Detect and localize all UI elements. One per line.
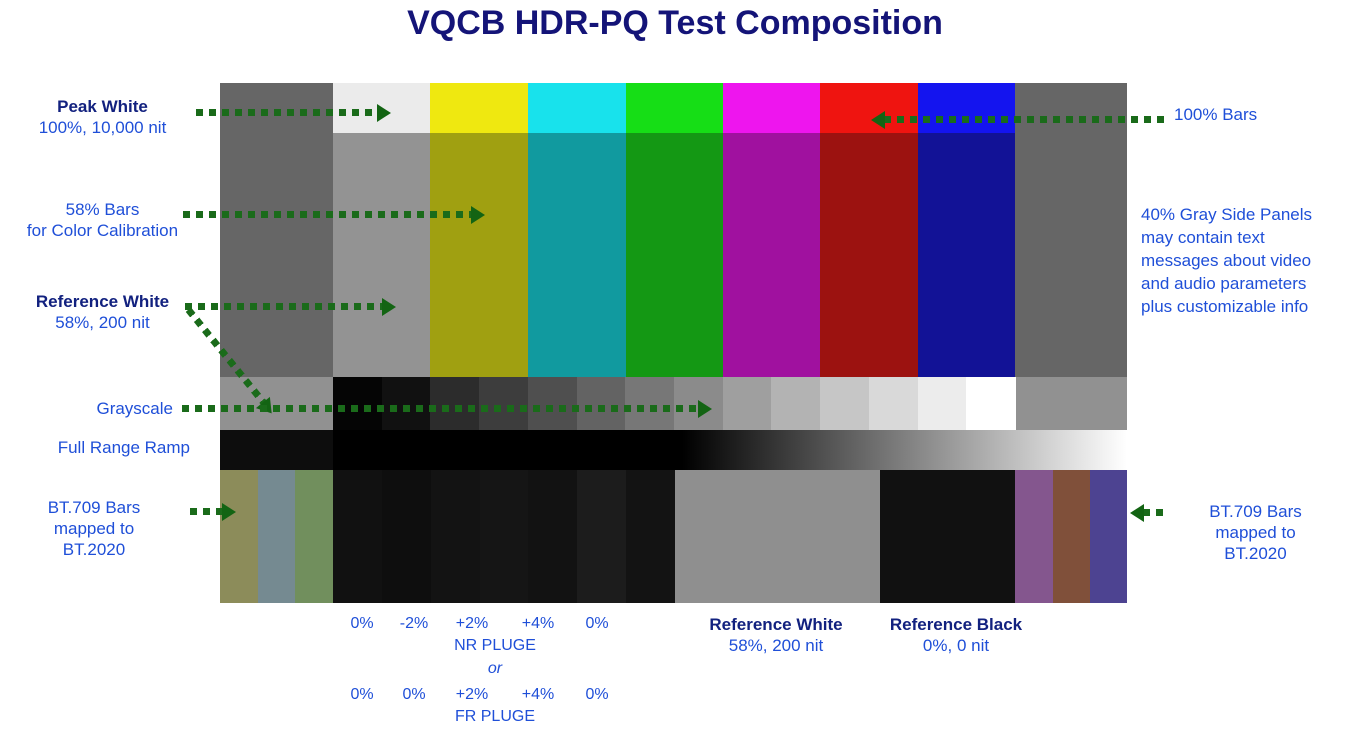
ramp-gradient: [333, 430, 1127, 470]
fr-pluge-name: FR PLUGE: [400, 708, 590, 726]
arrow-bt709-right: [1143, 509, 1163, 517]
page-title: VQCB HDR-PQ Test Composition: [0, 4, 1350, 43]
nr-pluge-value-4: 0%: [575, 615, 619, 633]
bt709-pluge-step-2: [431, 470, 480, 603]
bt709-right-purple: [1015, 470, 1053, 603]
bar-58-cyan-58: [528, 133, 626, 377]
arrow-dots: [884, 116, 1168, 123]
annotation-reference-white: Reference White 58%, 200 nit: [10, 291, 195, 333]
bt709-left-olive: [220, 470, 258, 603]
grayscale-step-2: [430, 377, 479, 430]
bar-100-cyan: [528, 83, 626, 133]
fr-pluge-value-3: +4%: [516, 686, 560, 704]
bt709-reference-white-block: [675, 470, 880, 603]
annotation-reference-white-sub: 58%, 200 nit: [55, 313, 150, 332]
arrow-grayscale: [182, 405, 699, 413]
annotation-peak-white-sub: 100%, 10,000 nit: [39, 118, 167, 137]
color-bars-row: [220, 83, 1127, 377]
grayscale-step-6: [625, 377, 674, 430]
fr-pluge-value-1: 0%: [392, 686, 436, 704]
bt709-bars-row: [220, 470, 1127, 603]
annotation-100-bars-label: 100% Bars: [1174, 105, 1257, 124]
annotation-peak-white: Peak White 100%, 10,000 nit: [10, 96, 195, 138]
bt709-pluge-step-4: [528, 470, 577, 603]
annotation-full-range-ramp-label: Full Range Ramp: [58, 438, 190, 457]
arrow-head-left: [1130, 504, 1144, 522]
fr-pluge-value-0: 0%: [340, 686, 384, 704]
annotation-full-range-ramp: Full Range Ramp: [10, 437, 190, 458]
annotation-side-panel-l2: may contain text: [1141, 228, 1265, 247]
bt709-pluge-step-1: [382, 470, 431, 603]
bt709-reference-black-block: [880, 470, 1015, 603]
nr-pluge-value-2: +2%: [450, 615, 494, 633]
annotation-bt709-left-l2: mapped to: [54, 519, 134, 538]
annotation-58-bars-l1: 58% Bars: [66, 200, 140, 219]
annotation-side-panel-l5: plus customizable info: [1141, 297, 1308, 316]
arrow-head-right: [222, 503, 236, 521]
annotation-peak-white-title: Peak White: [57, 97, 148, 116]
grayscale-right-gray-panel: [1015, 377, 1127, 430]
bar-58-yellow-58: [430, 133, 528, 377]
bt709-pluge-step-3: [480, 470, 529, 603]
bottom-label-reference-white: Reference White 58%, 200 nit: [676, 614, 876, 656]
grayscale-left-gray-panel: [220, 377, 333, 430]
left-gray-side-panel: [220, 83, 333, 377]
annotation-bt709-left: BT.709 Bars mapped to BT.2020: [10, 497, 178, 560]
annotation-bt709-left-l3: BT.2020: [63, 540, 125, 559]
grayscale-step-9: [771, 377, 820, 430]
arrow-100-bars: [884, 116, 1168, 124]
annotation-bt709-right-l3: BT.2020: [1224, 544, 1286, 563]
arrow-dots: [196, 109, 378, 116]
arrow-head-right: [377, 104, 391, 122]
annotation-bt709-right-l2: mapped to: [1215, 523, 1295, 542]
annotation-bt709-right: BT.709 Bars mapped to BT.2020: [1168, 501, 1343, 564]
bottom-label-reference-black: Reference Black 0%, 0 nit: [860, 614, 1052, 656]
arrow-head-right: [382, 298, 396, 316]
or-separator: or: [400, 660, 590, 678]
arrow-bt709-left: [190, 508, 223, 516]
arrow-dots: [185, 303, 383, 310]
annotation-grayscale: Grayscale: [10, 398, 173, 419]
bar-100-blue: [918, 83, 1015, 133]
bar-58-blue-58: [918, 133, 1015, 377]
arrow-dots: [1143, 509, 1163, 516]
grayscale-step-0: [333, 377, 382, 430]
bottom-reference-black-sub: 0%, 0 nit: [923, 636, 989, 655]
bar-58-magenta-58: [723, 133, 820, 377]
bt709-right-violet: [1090, 470, 1127, 603]
annotation-reference-white-title: Reference White: [36, 292, 169, 311]
annotation-bt709-left-l1: BT.709 Bars: [48, 498, 141, 517]
bottom-reference-black-title: Reference Black: [890, 615, 1022, 634]
arrow-dots: [182, 405, 699, 412]
grayscale-step-8: [723, 377, 772, 430]
arrow-reference-white-horizontal: [185, 303, 383, 311]
nr-pluge-value-0: 0%: [340, 615, 384, 633]
arrow-head-right: [471, 206, 485, 224]
bar-100-yellow: [430, 83, 528, 133]
bt709-left-slate: [258, 470, 295, 603]
grayscale-step-13: [966, 377, 1015, 430]
nr-pluge-value-3: +4%: [516, 615, 560, 633]
annotation-58-bars-l2: for Color Calibration: [27, 221, 178, 240]
annotation-100-bars: 100% Bars: [1174, 104, 1344, 125]
bt709-pluge-step-0: [333, 470, 382, 603]
arrow-dots: [183, 211, 472, 218]
bar-100-magenta: [723, 83, 820, 133]
arrow-58-bars: [183, 211, 472, 219]
annotation-bt709-right-l1: BT.709 Bars: [1209, 502, 1302, 521]
nr-pluge-value-1: -2%: [392, 615, 436, 633]
arrow-peak-white: [196, 109, 378, 117]
arrow-dots: [190, 508, 223, 515]
nr-pluge-name: NR PLUGE: [400, 637, 590, 655]
bottom-reference-white-title: Reference White: [709, 615, 842, 634]
grayscale-row: [220, 377, 1127, 430]
bar-58-red-58: [820, 133, 918, 377]
bt709-pluge-step-6: [626, 470, 675, 603]
grayscale-step-4: [528, 377, 577, 430]
grayscale-step-5: [577, 377, 626, 430]
bar-100-red: [820, 83, 918, 133]
grayscale-step-3: [479, 377, 528, 430]
bar-100-green: [626, 83, 723, 133]
fr-pluge-value-4: 0%: [575, 686, 619, 704]
bt709-right-brown: [1053, 470, 1090, 603]
full-range-ramp-row: [220, 430, 1127, 470]
fr-pluge-value-2: +2%: [450, 686, 494, 704]
grayscale-step-11: [869, 377, 918, 430]
annotation-side-panel-l1: 40% Gray Side Panels: [1141, 205, 1312, 224]
arrow-head-left: [871, 111, 885, 129]
annotation-side-panel-note: 40% Gray Side Panels may contain text me…: [1141, 203, 1346, 318]
annotation-grayscale-label: Grayscale: [96, 399, 173, 418]
grayscale-step-1: [382, 377, 431, 430]
annotation-side-panel-l4: and audio parameters: [1141, 274, 1306, 293]
test-pattern-image: [220, 83, 1127, 603]
bar-58-gray-58: [333, 133, 430, 377]
ramp-left-black: [220, 430, 333, 470]
bottom-reference-white-sub: 58%, 200 nit: [729, 636, 824, 655]
bar-58-green-58: [626, 133, 723, 377]
grayscale-step-10: [820, 377, 869, 430]
bt709-pluge-step-5: [577, 470, 626, 603]
annotation-side-panel-l3: messages about video: [1141, 251, 1311, 270]
grayscale-step-12: [918, 377, 967, 430]
bt709-left-sage: [295, 470, 333, 603]
arrow-head-right: [698, 400, 712, 418]
annotation-58-bars: 58% Bars for Color Calibration: [10, 199, 195, 241]
right-gray-side-panel: [1015, 83, 1127, 377]
